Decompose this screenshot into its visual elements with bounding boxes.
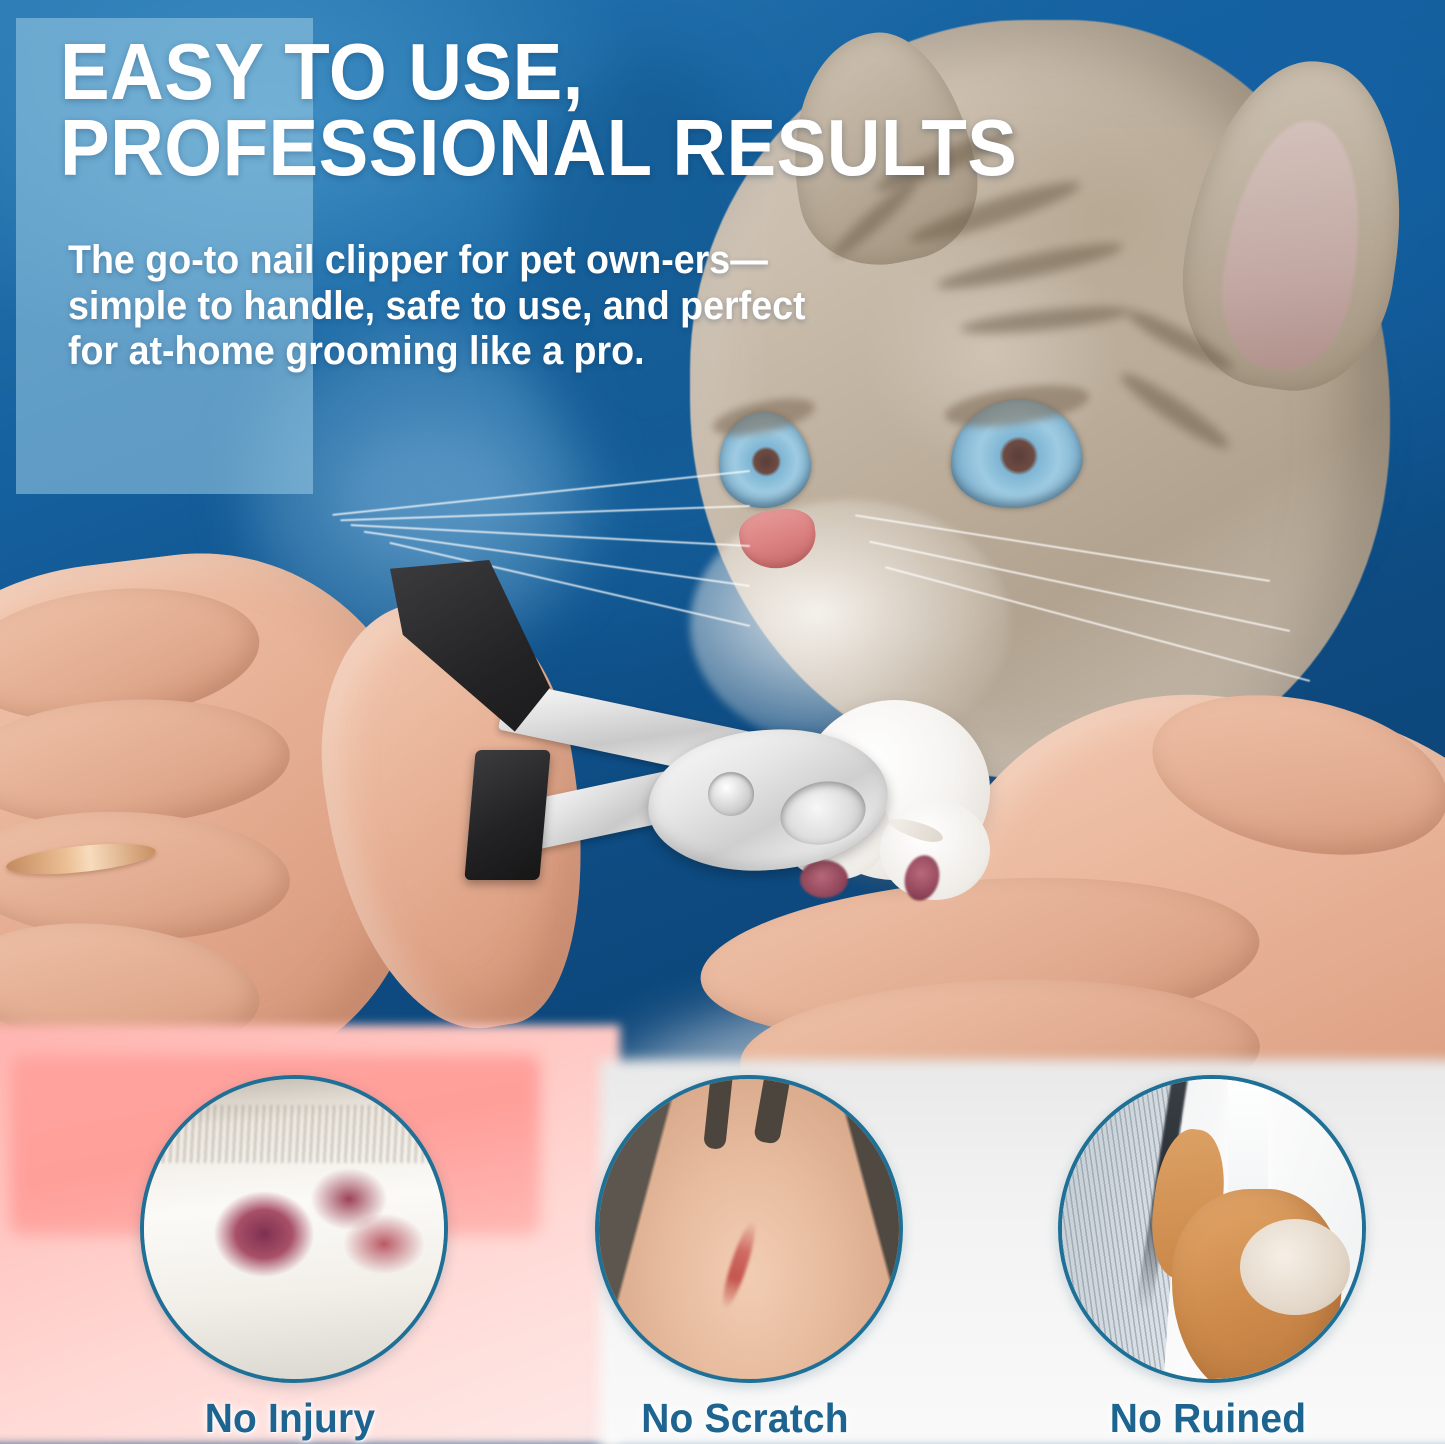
shirt-fold [330, 420, 530, 570]
finger-gap [753, 1075, 791, 1145]
subtitle-description: The go-to nail clipper for pet own-ers—s… [68, 238, 820, 375]
feature-image-circle [140, 1075, 448, 1383]
scratched-hand-photo [599, 1079, 899, 1379]
clipper-handle-upper [390, 560, 550, 780]
ginger-cat-head [1240, 1219, 1350, 1315]
page-title: EASY TO USE, PROFESSIONAL RESULTS [60, 34, 1157, 186]
headline-line-2: PROFESSIONAL RESULTS [60, 110, 1157, 186]
scratch-mark [717, 1219, 761, 1311]
feature-caption: No Ruined Sofa [1066, 1395, 1351, 1444]
feature-caption: No Scratch [603, 1395, 888, 1442]
headline-line-1: EASY TO USE, [60, 34, 1157, 110]
feature-image-circle [595, 1075, 903, 1383]
pet-nail-clipper-product [380, 560, 880, 910]
product-marketing-image: EASY TO USE, PROFESSIONAL RESULTS The go… [0, 0, 1445, 1444]
clipper-handle-lower [464, 750, 550, 880]
fur-texture [144, 1105, 444, 1163]
clipper-pivot-screw [708, 772, 754, 816]
feature-no-scratch: No Scratch [595, 1075, 928, 1442]
feature-no-injury: No Injury [140, 1075, 473, 1442]
feature-image-circle [1058, 1075, 1366, 1383]
feature-no-ruined-sofa: No Ruined Sofa [1058, 1075, 1391, 1444]
cat-on-screen-photo [1062, 1079, 1362, 1379]
finger-gap [703, 1075, 733, 1150]
injured-paw-photo [144, 1079, 444, 1379]
feature-caption: No Injury [148, 1395, 433, 1442]
